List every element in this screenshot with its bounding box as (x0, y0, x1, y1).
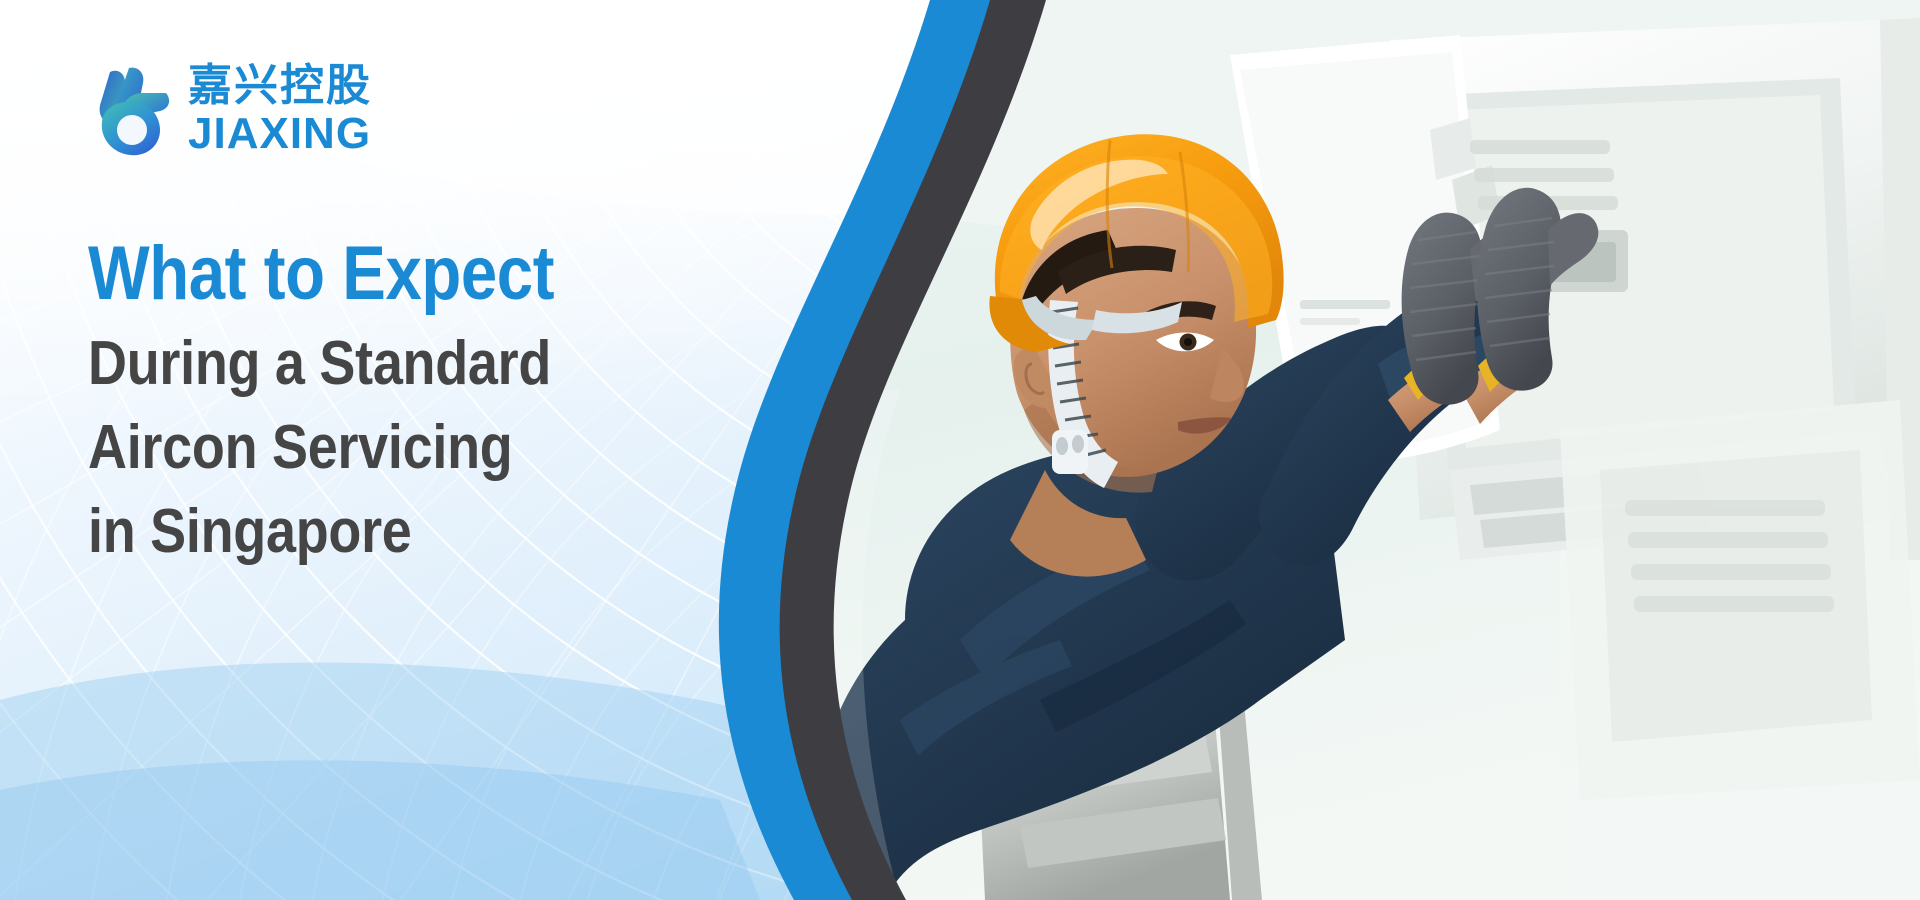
headline-line-1: What to Expect (88, 232, 638, 316)
headline-block: What to Expect During a Standard Aircon … (88, 232, 728, 574)
headline-line-2: During a Standard (88, 322, 645, 406)
brand-logo[interactable]: 嘉兴控股 JIAXING (88, 58, 372, 158)
logo-wordmark: 嘉兴控股 JIAXING (188, 58, 372, 156)
logo-english-name: JIAXING (188, 112, 372, 156)
logo-chinese-name: 嘉兴控股 (188, 64, 372, 108)
banner: 嘉兴控股 JIAXING What to Expect During a Sta… (0, 0, 1920, 900)
jiaxing-petal-ring-icon (88, 58, 174, 158)
headline-line-4: in Singapore (88, 490, 645, 574)
headline-line-3: Aircon Servicing (88, 406, 645, 490)
